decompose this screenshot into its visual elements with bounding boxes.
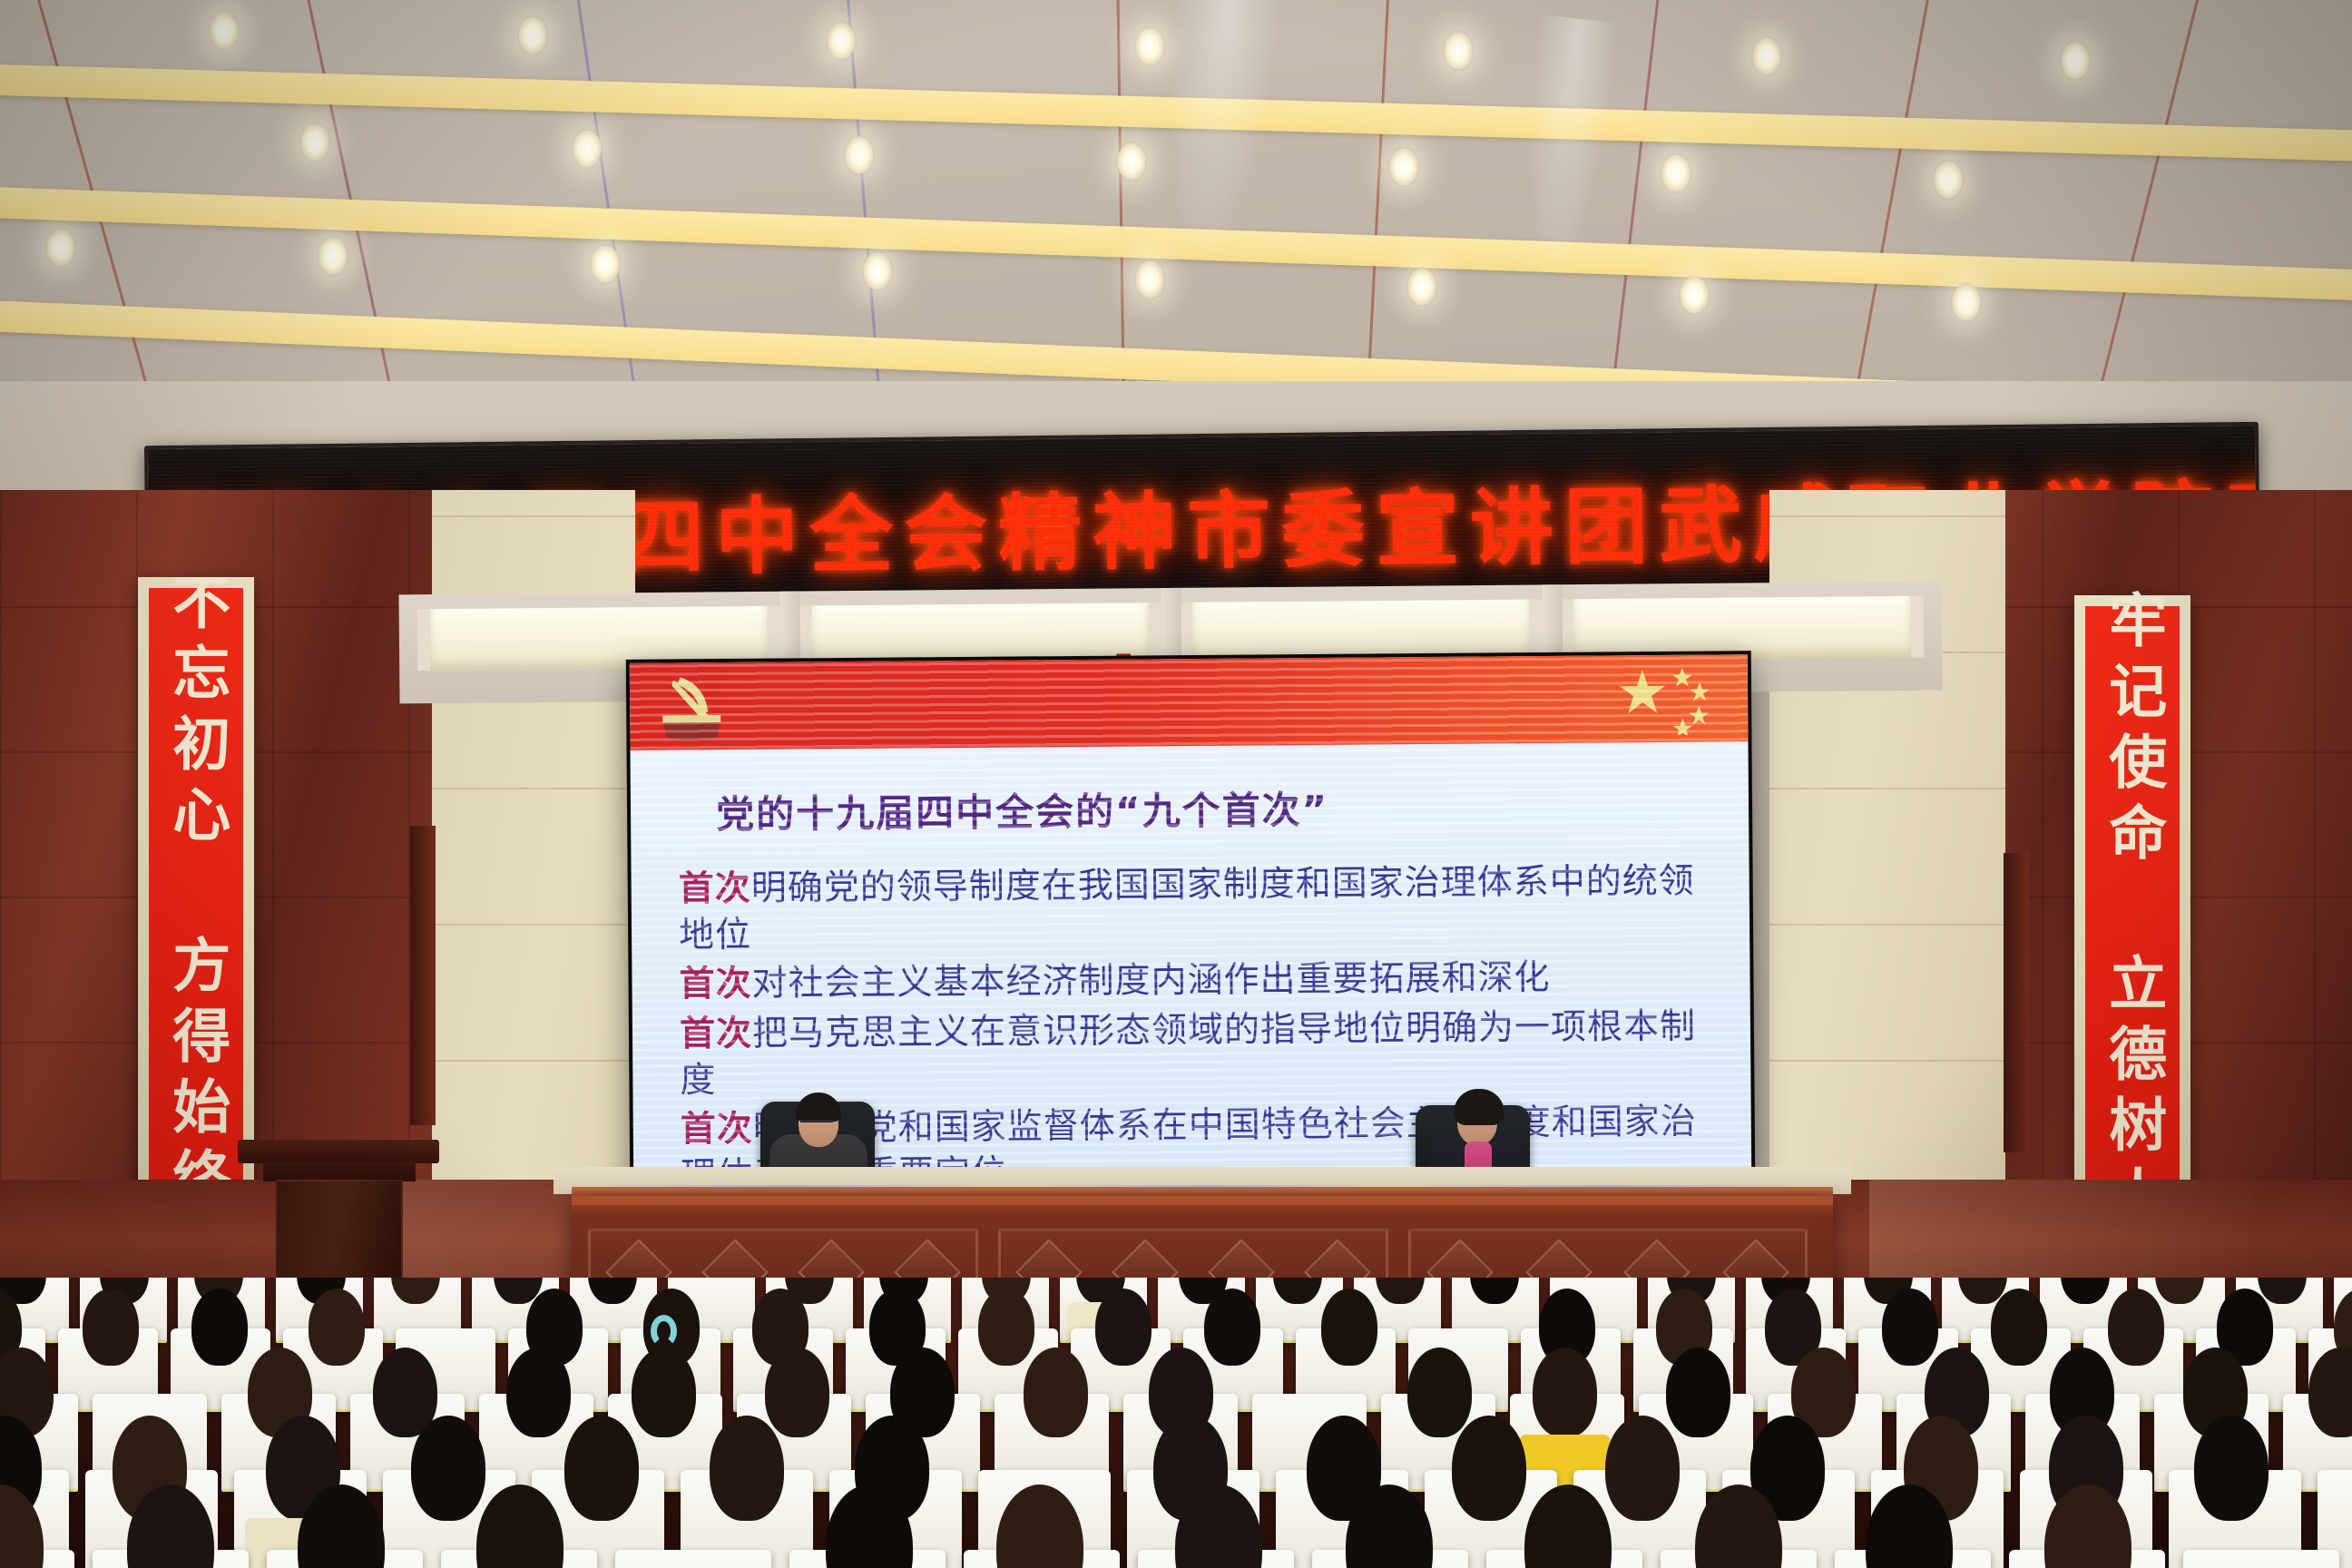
party-emblem-icon (650, 668, 734, 747)
ceiling (0, 0, 2352, 390)
ceiling-downlight (299, 122, 330, 162)
hairband-accessory (651, 1315, 677, 1347)
slide-bullet-1: 首次明确党的领导制度在我国国家制度和国家治理体系中的统领地位 (679, 859, 1707, 959)
slide-bullet-text: 对社会主义基本经济制度内涵作出重要拓展和深化 (751, 957, 1550, 1004)
audience-member (765, 1347, 829, 1437)
ceiling-seam (2091, 0, 2208, 390)
ceiling-seam (1848, 0, 1935, 390)
banner-right-text: 牢记使命 立德树人 (2102, 590, 2163, 1236)
ceiling-downlight (862, 251, 893, 291)
ceiling-downlight (1116, 142, 1147, 181)
banner-left-field: 不忘初心 方得始终 (149, 588, 243, 1201)
banner-right-field: 牢记使命 立德树人 (2085, 606, 2180, 1220)
slide-bullet-keyword: 首次 (679, 868, 751, 910)
audience-member (978, 1289, 1034, 1366)
slide-bullet-keyword: 首次 (680, 1014, 752, 1055)
audience-member (309, 1289, 365, 1366)
audience-member (632, 1347, 696, 1437)
audience-member (2108, 1289, 2164, 1366)
ceiling-seam (844, 0, 884, 390)
ceiling-downlight (45, 228, 76, 268)
ceiling-beam-3 (0, 299, 2352, 390)
audience-member (710, 1416, 784, 1521)
audience-member (1991, 1289, 2047, 1366)
speaker-right-hair (1454, 1089, 1504, 1125)
audience-member (1605, 1416, 1680, 1521)
banner-left: 不忘初心 方得始终 (138, 577, 254, 1212)
conference-hall-photo: 党的十九届四中全会精神市委宣讲团武威职业学院宣讲报告会 不忘初心 方得始终 牢记… (0, 0, 2352, 1568)
slide-title: 党的十九届四中全会的“九个首次” (716, 777, 1705, 840)
ceiling-downlight (590, 244, 621, 284)
ceiling-downlight (1751, 36, 1782, 76)
audience-member (411, 1416, 485, 1521)
audience-member (1533, 1347, 1597, 1437)
ceiling-downlight (517, 15, 548, 55)
audience-chair (2183, 1550, 2339, 1568)
flag-stars-icon (1615, 661, 1725, 735)
ceiling-downlight (844, 135, 875, 175)
ceiling-downlight (318, 236, 348, 276)
audience-member (1095, 1289, 1151, 1366)
banner-left-text: 不忘初心 方得始终 (166, 572, 227, 1218)
ceiling-downlight (2060, 41, 2091, 81)
ceiling-downlight (1443, 31, 1474, 71)
speaker-left-hair (796, 1093, 841, 1122)
ceiling-downlight (1406, 267, 1437, 307)
audience-member (564, 1416, 639, 1521)
slide-header-band (630, 654, 1749, 750)
ceiling-downlight (1933, 160, 1964, 200)
banner-right: 牢记使命 立德树人 (2074, 595, 2190, 1230)
audience-member (1321, 1289, 1377, 1366)
audience-seating (0, 1278, 2352, 1568)
ceiling-downlight (1679, 275, 1710, 315)
ceiling-downlight (1661, 153, 1691, 193)
right-door-edge (2004, 853, 2029, 1152)
ceiling-downlight (572, 129, 603, 169)
ceiling-downlight (1388, 147, 1419, 187)
ceiling-downlight (1134, 260, 1165, 299)
audience-member (191, 1289, 248, 1366)
left-door-edge (410, 826, 436, 1125)
ceiling-downlight (1134, 26, 1165, 66)
audience-member (2194, 1416, 2269, 1521)
audience-member (506, 1347, 571, 1437)
ceiling-seam (1116, 0, 1125, 390)
slide-bullet-text: 明确党的领导制度在我国国家制度和国家治理体系中的统领地位 (679, 861, 1695, 955)
audience-chair (615, 1550, 771, 1568)
slide-bullet-keyword: 首次 (679, 964, 751, 1005)
ceiling-seam (1365, 0, 1391, 390)
ceiling-downlight (1951, 282, 1982, 322)
ceiling-downlight (209, 11, 240, 51)
audience-member (1024, 1347, 1088, 1437)
glasses-icon (800, 1120, 833, 1127)
audience-member (1204, 1289, 1260, 1366)
slide-bullet-keyword: 首次 (681, 1109, 753, 1151)
audience-member (1452, 1416, 1526, 1521)
audience-member (1666, 1347, 1730, 1437)
audience-member (83, 1289, 139, 1366)
audience-member (1882, 1289, 1938, 1366)
audience-member (1407, 1347, 1472, 1437)
slide-bullet-2: 首次对社会主义基本经济制度内涵作出重要拓展和深化 (679, 955, 1706, 1009)
ceiling-downlight (826, 21, 857, 61)
